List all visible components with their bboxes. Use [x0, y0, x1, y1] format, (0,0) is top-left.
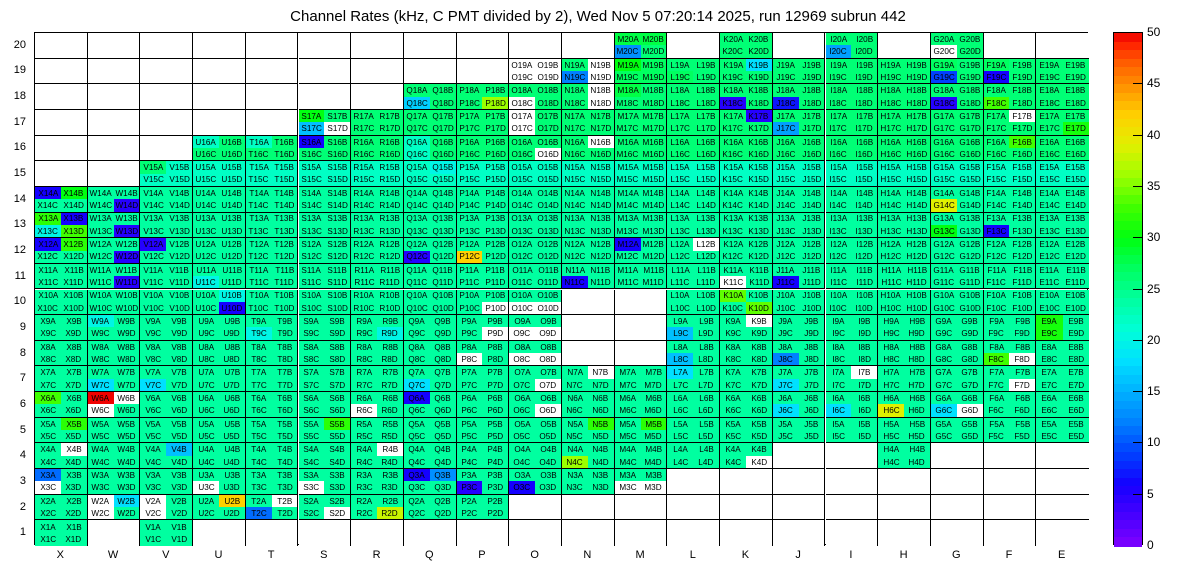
channel-label: H7D [909, 381, 925, 389]
grid-block-U11: U11AU11BU11CU11D [193, 264, 246, 290]
channel-cell-W8D: W8D [114, 353, 140, 365]
channel-cell-H11B: H11B [904, 264, 930, 276]
grid-block-E3 [1036, 469, 1089, 495]
channel-label: L9C [673, 330, 688, 338]
channel-label: E16C [1039, 150, 1059, 158]
grid-block-K4: K4AK4BK4CK4D [720, 443, 773, 469]
channel-cell-P12B: P12B [482, 238, 508, 250]
channel-cell-E9B: E9B [1063, 315, 1089, 327]
channel-label: O18A [512, 86, 533, 94]
channel-label: E19D [1066, 73, 1086, 81]
channel-cell-P5D: P5D [482, 430, 508, 442]
channel-cell-I14C: I14C [826, 199, 852, 211]
channel-label: G15C [933, 176, 954, 184]
grid-block-T17 [246, 110, 299, 136]
grid-block-L4: L4AL4BL4CL4D [667, 443, 720, 469]
grid-block-J10: J10AJ10BJ10CJ10D [773, 290, 826, 316]
channel-label: X1D [66, 535, 82, 543]
channel-cell-K14C: K14C [720, 199, 746, 211]
grid-block-S7: S7AS7BS7CS7D [299, 366, 352, 392]
channel-label: S3D [329, 483, 345, 491]
channel-cell-O9D: O9D [535, 327, 561, 339]
channel-label: K9A [725, 317, 740, 325]
channel-cell-E17D: E17D [1063, 122, 1089, 134]
channel-cell-T17D [272, 122, 298, 134]
channel-label: J6B [805, 394, 819, 402]
channel-cell-L20C [667, 45, 693, 57]
grid-block-N16: N16AN16BN16CN16D [562, 136, 615, 162]
channel-cell-U6C: U6C [193, 404, 219, 416]
channel-cell-M17A: M17A [615, 110, 641, 122]
channel-cell-S2C: S2C [299, 507, 325, 519]
channel-label: R2A [356, 497, 372, 505]
channel-cell-R1A [351, 520, 377, 533]
x-tick-H: H [900, 549, 908, 561]
channel-cell-M3C: M3C [615, 481, 641, 493]
channel-label: T10D [275, 304, 295, 312]
channel-cell-Q4A: Q4A [404, 443, 430, 455]
channel-cell-I18C: I18C [826, 97, 852, 109]
channel-label: Q17A [406, 112, 427, 120]
channel-label: H8A [883, 343, 899, 351]
channel-cell-V16C [140, 148, 166, 160]
channel-label: R15D [380, 176, 401, 184]
channel-label: J15D [802, 176, 821, 184]
channel-label: O19C [512, 73, 533, 81]
channel-label: M20D [643, 47, 665, 55]
channel-cell-P15A: P15A [457, 161, 483, 173]
grid-block-F8: F8AF8BF8CF8D [984, 341, 1037, 367]
grid-block-M5: M5AM5BM5CM5D [615, 418, 668, 444]
channel-label: N7A [567, 369, 583, 377]
channel-label: G19B [959, 61, 980, 69]
channel-cell-G3B [957, 469, 983, 481]
channel-cell-P17A: P17A [457, 110, 483, 122]
channel-cell-N5A: N5A [562, 418, 588, 430]
grid-block-H19: H19AH19BH19CH19D [878, 59, 931, 85]
channel-cell-W15D [114, 174, 140, 186]
channel-label: P14D [485, 201, 505, 209]
channel-cell-V16A [140, 136, 166, 148]
channel-cell-W20B [114, 33, 140, 45]
channel-label: Q2D [434, 509, 451, 517]
channel-cell-R14D: R14D [377, 199, 403, 211]
grid-block-V15: V15AV15BV15CV15D [140, 161, 193, 187]
channel-cell-X10A: X10A [35, 290, 61, 302]
grid-block-U17 [193, 110, 246, 136]
channel-label: W11D [115, 278, 137, 286]
channel-cell-F2A [984, 495, 1010, 507]
channel-cell-P2C: P2C [457, 507, 483, 519]
x-tick-E: E [1058, 549, 1065, 561]
channel-label: U2C [198, 509, 214, 517]
channel-label: I10D [856, 304, 873, 312]
channel-label: V10C [143, 304, 163, 312]
channel-cell-M16D: M16D [641, 148, 667, 160]
channel-cell-H11A: H11A [878, 264, 904, 276]
channel-label: P10A [460, 292, 480, 300]
channel-label: K7A [725, 369, 740, 377]
channel-cell-H6C: H6C [878, 404, 904, 416]
channel-label: O13C [512, 227, 533, 235]
channel-label: S6B [330, 394, 345, 402]
grid-block-S10: S10AS10BS10CS10D [299, 290, 352, 316]
grid-block-U8: U8AU8BU8CU8D [193, 341, 246, 367]
channel-label: L7C [673, 381, 688, 389]
channel-cell-U14A: U14A [193, 187, 219, 199]
channel-label: P7B [488, 369, 503, 377]
channel-cell-X20C [35, 45, 61, 57]
channel-cell-Q5B: Q5B [430, 418, 456, 430]
channel-cell-S2B: S2B [324, 495, 350, 507]
channel-cell-E9A: E9A [1036, 315, 1062, 327]
grid-block-P1 [457, 520, 510, 546]
channel-cell-V5B: V5B [166, 418, 192, 430]
channel-cell-G3D [957, 481, 983, 493]
grid-block-T9: T9AT9BT9CT9D [246, 315, 299, 341]
grid-block-M18: M18AM18BM18CM18D [615, 84, 668, 110]
channel-cell-J6D: J6D [799, 404, 825, 416]
channel-cell-R16A: R16A [351, 136, 377, 148]
channel-cell-W1D [114, 533, 140, 546]
channel-cell-F4B [1009, 443, 1035, 455]
grid-block-H14: H14AH14BH14CH14D [878, 187, 931, 213]
channel-label: I15C [830, 176, 847, 184]
channel-cell-H9C: H9C [878, 327, 904, 339]
channel-cell-U11B: U11B [219, 264, 245, 276]
y-tick-8: 8 [20, 347, 26, 359]
channel-label: U14C [196, 201, 217, 209]
channel-label: I5D [858, 432, 871, 440]
channel-cell-V11A: V11A [140, 264, 166, 276]
channel-label: K6A [725, 394, 740, 402]
channel-label: H10C [881, 304, 902, 312]
channel-cell-S19B [324, 59, 350, 71]
channel-label: S13A [301, 215, 321, 223]
channel-cell-J5B: J5B [799, 418, 825, 430]
channel-label: W13A [89, 215, 111, 223]
grid-block-G9: G9AG9BG9CG9D [931, 315, 984, 341]
channel-label: J8C [778, 355, 793, 363]
channel-label: V7C [145, 381, 161, 389]
channel-label: X3B [66, 471, 81, 479]
channel-label: E19A [1039, 61, 1059, 69]
channel-cell-G15B: G15B [957, 161, 983, 173]
channel-cell-K16B: K16B [746, 136, 772, 148]
channel-cell-N9D [588, 327, 614, 339]
grid-block-X17 [35, 110, 88, 136]
channel-label: M13C [617, 227, 639, 235]
channel-cell-I4D [851, 456, 877, 468]
channel-cell-N4B: N4B [588, 443, 614, 455]
channel-cell-W17C [88, 122, 114, 134]
channel-cell-K12C: K12C [720, 251, 746, 263]
channel-label: N6B [593, 394, 609, 402]
channel-cell-L5A: L5A [667, 418, 693, 430]
channel-cell-R13C: R13C [351, 225, 377, 237]
channel-label: V10D [169, 304, 189, 312]
channel-label: O4B [540, 445, 556, 453]
channel-label: R8A [356, 343, 372, 351]
grid-block-H18: H18AH18BH18CH18D [878, 84, 931, 110]
channel-cell-N5C: N5C [562, 430, 588, 442]
grid-block-U16: U16AU16BU16CU16D [193, 136, 246, 162]
channel-cell-L19C: L19C [667, 71, 693, 83]
channel-cell-R9C: R9C [351, 327, 377, 339]
channel-cell-S18A [299, 84, 325, 96]
channel-cell-S1A [299, 520, 325, 533]
channel-cell-L18C: L18C [667, 97, 693, 109]
channel-cell-I1B [851, 520, 877, 533]
y-axis: 2019181716151413121110987654321 [0, 32, 30, 545]
channel-cell-X7C: X7C [35, 379, 61, 391]
channel-cell-W4D: W4D [114, 456, 140, 468]
channel-label: P12C [459, 253, 479, 261]
channel-cell-E6D: E6D [1063, 404, 1089, 416]
channel-cell-T3A: T3A [246, 469, 272, 481]
grid-block-H9: H9AH9BH9CH9D [878, 315, 931, 341]
grid-block-I1 [826, 520, 879, 546]
x-tick-U: U [214, 549, 222, 561]
channel-cell-I11C: I11C [826, 276, 852, 288]
channel-cell-Q16A: Q16A [404, 136, 430, 148]
channel-label: F11C [987, 278, 1006, 286]
channel-label: F13C [987, 227, 1007, 235]
channel-label: H13D [907, 227, 928, 235]
channel-cell-N2C [562, 507, 588, 519]
channel-label: R12B [380, 240, 400, 248]
channel-cell-U9B: U9B [219, 315, 245, 327]
channel-cell-V16D [166, 148, 192, 160]
channel-label: O19B [538, 61, 559, 69]
grid-block-K11: K11AK11BK11CK11D [720, 264, 773, 290]
channel-cell-S10B: S10B [324, 290, 350, 302]
channel-label: J9A [779, 317, 793, 325]
channel-label: F11B [1013, 266, 1032, 274]
channel-label: R2C [356, 509, 372, 517]
channel-cell-W3C: W3C [88, 481, 114, 493]
channel-cell-G3A [931, 469, 957, 481]
y-tick-6: 6 [20, 398, 26, 410]
grid-block-H7: H7AH7BH7CH7D [878, 366, 931, 392]
channel-label: N11B [591, 266, 611, 274]
channel-cell-N10A [562, 290, 588, 302]
channel-label: Q7D [434, 381, 451, 389]
channel-cell-J15A: J15A [773, 161, 799, 173]
channel-cell-P9A: P9A [457, 315, 483, 327]
channel-label: Q7A [409, 369, 425, 377]
channel-cell-P3A: P3A [457, 469, 483, 481]
channel-cell-U7C: U7C [193, 379, 219, 391]
grid-block-X19 [35, 59, 88, 85]
channel-label: Q3D [434, 483, 451, 491]
channel-cell-S17C: S17C [299, 122, 325, 134]
channel-label: K5A [725, 420, 740, 428]
grid-block-M1 [615, 520, 668, 546]
channel-cell-H15C: H15C [878, 174, 904, 186]
channel-label: E12A [1039, 240, 1059, 248]
channel-cell-J4D [799, 456, 825, 468]
channel-cell-Q10B: Q10B [430, 290, 456, 302]
channel-label: T12A [249, 240, 269, 248]
channel-cell-W11B: W11B [114, 264, 140, 276]
grid-block-Q16: Q16AQ16BQ16CQ16D [404, 136, 457, 162]
channel-cell-J13D: J13D [799, 225, 825, 237]
channel-cell-O7B: O7B [535, 366, 561, 378]
channel-label: O4C [514, 458, 531, 466]
channel-cell-S16D: S16D [324, 148, 350, 160]
grid-block-J11: J11AJ11BJ11CJ11D [773, 264, 826, 290]
channel-cell-V16B [166, 136, 192, 148]
channel-label: G16D [959, 150, 980, 158]
channel-cell-M2D [641, 507, 667, 519]
channel-label: R7D [382, 381, 398, 389]
channel-cell-I14B: I14B [851, 187, 877, 199]
channel-cell-R13D: R13D [377, 225, 403, 237]
grid-block-X8: X8AX8BX8CX8D [35, 341, 88, 367]
channel-cell-I7A: I7A [826, 366, 852, 378]
channel-cell-E20A [1036, 33, 1062, 45]
channel-label: W13C [89, 227, 112, 235]
channel-label: E14C [1039, 201, 1059, 209]
channel-label: J5C [778, 432, 793, 440]
channel-label: V11D [169, 278, 189, 286]
channel-cell-G17C: G17C [931, 122, 957, 134]
channel-cell-X4C: X4C [35, 456, 61, 468]
channel-cell-P6C: P6C [457, 404, 483, 416]
channel-cell-M10A [615, 290, 641, 302]
channel-label: V12C [143, 253, 163, 261]
channel-cell-V12D: V12D [166, 251, 192, 263]
channel-cell-V11B: V11B [166, 264, 192, 276]
channel-label: P6C [462, 406, 478, 414]
channel-cell-P13D: P13D [482, 225, 508, 237]
channel-cell-G13D: G13D [957, 225, 983, 237]
channel-cell-G2B [957, 495, 983, 507]
channel-cell-F18D: F18D [1009, 97, 1035, 109]
channel-label: T5A [251, 420, 266, 428]
channel-label: H6D [909, 406, 925, 414]
channel-label: V13A [143, 215, 163, 223]
channel-label: S9C [303, 330, 319, 338]
channel-cell-N2D [588, 507, 614, 519]
channel-cell-W9B: W9B [114, 315, 140, 327]
channel-label: K15D [749, 176, 769, 184]
channel-cell-H14D: H14D [904, 199, 930, 211]
channel-cell-J9B: J9B [799, 315, 825, 327]
channel-cell-Q12B: Q12B [430, 238, 456, 250]
channel-cell-U11C: U11C [193, 276, 219, 288]
grid-block-T15: T15AT15BT15CT15D [246, 161, 299, 187]
channel-cell-F7C: F7C [984, 379, 1010, 391]
channel-cell-W12B: W12B [114, 238, 140, 250]
channel-label: I11B [856, 266, 872, 274]
grid-block-K19: K19AK19BK19CK19D [720, 59, 773, 85]
grid-block-V10: V10AV10BV10CV10D [140, 290, 193, 316]
channel-label: N3C [567, 483, 583, 491]
channel-label: O16B [538, 138, 559, 146]
channel-label: V7D [171, 381, 187, 389]
grid-block-Q19 [404, 59, 457, 85]
channel-cell-M3B: M3B [641, 469, 667, 481]
channel-label: W12D [115, 253, 138, 261]
grid-block-K17: K17AK17BK17CK17D [720, 110, 773, 136]
channel-label: V8C [145, 355, 161, 363]
channel-label: Q5D [434, 432, 451, 440]
channel-cell-F11A: F11A [984, 264, 1010, 276]
channel-label: S14D [327, 201, 347, 209]
channel-cell-L2C [667, 507, 693, 519]
channel-cell-E6B: E6B [1063, 392, 1089, 404]
channel-cell-S17A: S17A [299, 110, 325, 122]
channel-cell-J6A: J6A [773, 392, 799, 404]
channel-cell-V9C: V9C [140, 327, 166, 339]
channel-cell-L10C: L10C [667, 302, 693, 314]
channel-cell-P20B [482, 33, 508, 45]
channel-cell-O17A: O17A [509, 110, 535, 122]
channel-cell-N14A: N14A [562, 187, 588, 199]
channel-label: P12B [485, 240, 505, 248]
channel-cell-Q6B: Q6B [430, 392, 456, 404]
channel-cell-J3A [773, 469, 799, 481]
channel-label: I5B [858, 420, 870, 428]
channel-cell-R14A: R14A [351, 187, 377, 199]
channel-label: W14C [89, 201, 112, 209]
channel-cell-E11B: E11B [1063, 264, 1089, 276]
channel-cell-N7B: N7B [588, 366, 614, 378]
channel-label: Q18A [406, 86, 427, 94]
channel-label: K7B [751, 369, 766, 377]
channel-label: L13D [696, 227, 716, 235]
channel-cell-I5A: I5A [826, 418, 852, 430]
channel-label: P14A [460, 189, 480, 197]
channel-cell-L12A: L12A [667, 238, 693, 250]
channel-cell-Q17C: Q17C [404, 122, 430, 134]
grid-block-T4: T4AT4BT4CT4D [246, 443, 299, 469]
channel-cell-R1D [377, 533, 403, 546]
channel-cell-F19C: F19C [984, 71, 1010, 83]
grid-block-Q20 [404, 33, 457, 59]
channel-label: S11C [302, 278, 322, 286]
channel-label: H17B [907, 112, 927, 120]
channel-cell-K19D: K19D [746, 71, 772, 83]
channel-cell-M15C: M15C [615, 174, 641, 186]
channel-label: I18B [856, 86, 873, 94]
channel-cell-F5C: F5C [984, 430, 1010, 442]
channel-cell-S11D: S11D [324, 276, 350, 288]
channel-label: U13C [196, 227, 217, 235]
channel-cell-J9A: J9A [773, 315, 799, 327]
channel-label: K4C [725, 458, 741, 466]
grid-block-E5: E5AE5BE5CE5D [1036, 418, 1089, 444]
channel-label: J9D [804, 330, 819, 338]
channel-label: O6D [540, 406, 557, 414]
channel-label: E13C [1039, 227, 1059, 235]
grid-block-G17: G17AG17BG17CG17D [931, 110, 984, 136]
channel-label: N17C [564, 124, 585, 132]
channel-label: S17C [301, 124, 321, 132]
channel-cell-M1D [641, 533, 667, 546]
channel-cell-J9C: J9C [773, 327, 799, 339]
channel-cell-T5B: T5B [272, 418, 298, 430]
channel-cell-O10D: O10D [535, 302, 561, 314]
grid-block-H1 [878, 520, 931, 546]
channel-cell-Q11A: Q11A [404, 264, 430, 276]
channel-label: U5D [224, 432, 240, 440]
channel-label: E12C [1039, 253, 1059, 261]
channel-label: V2C [145, 509, 161, 517]
channel-label: R4D [382, 458, 398, 466]
